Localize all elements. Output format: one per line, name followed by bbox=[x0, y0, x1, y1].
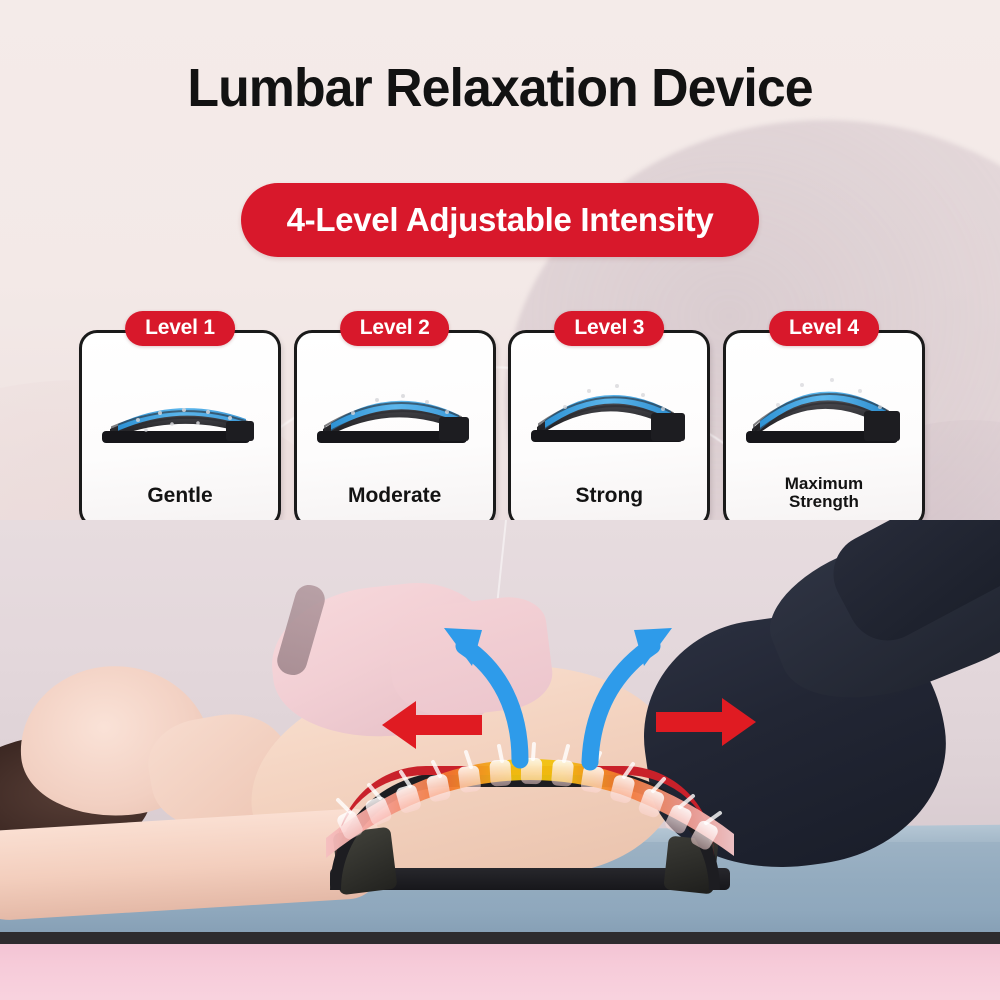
level-card-1[interactable]: Level 1 bbox=[79, 330, 281, 528]
level-card-4[interactable]: Level 4 bbox=[723, 330, 925, 528]
level-badge-2: Level 2 bbox=[340, 311, 450, 346]
level-card-3[interactable]: Level 3 bbox=[508, 330, 710, 528]
headline-pill: 4-Level Adjustable Intensity bbox=[241, 183, 759, 257]
page-title: Lumbar Relaxation Device bbox=[20, 57, 980, 119]
level-card-2[interactable]: Level 2 bbox=[294, 330, 496, 528]
level-label-4-line-2: Strength bbox=[789, 492, 859, 511]
product-image-level-1 bbox=[82, 355, 278, 465]
product-image-level-4 bbox=[726, 355, 922, 465]
motion-arrows-overlay bbox=[0, 520, 1000, 1000]
promo-image-stage: Lumbar Relaxation Device 4-Level Adjusta… bbox=[0, 0, 1000, 1000]
level-badge-4: Level 4 bbox=[769, 311, 879, 346]
level-label-1: Gentle bbox=[147, 485, 212, 507]
lifestyle-photo bbox=[0, 520, 1000, 1000]
level-badge-1: Level 1 bbox=[125, 311, 235, 346]
level-label-4-line-1: Maximum bbox=[785, 474, 863, 493]
level-badge-3: Level 3 bbox=[554, 311, 664, 346]
red-arrow-stretch-left bbox=[382, 701, 482, 749]
red-arrow-stretch-right bbox=[656, 698, 756, 746]
level-label-3: Strong bbox=[575, 485, 643, 507]
level-label-2: Moderate bbox=[348, 485, 441, 507]
level-label-4: Maximum Strength bbox=[785, 475, 863, 511]
level-card-row: Level 1 bbox=[79, 330, 925, 525]
product-image-level-3 bbox=[511, 355, 707, 465]
blue-arrow-lift-left bbox=[444, 628, 520, 760]
product-image-level-2 bbox=[297, 355, 493, 465]
blue-arrow-lift-right bbox=[590, 628, 672, 762]
headline-pill-label: 4-Level Adjustable Intensity bbox=[287, 201, 714, 239]
